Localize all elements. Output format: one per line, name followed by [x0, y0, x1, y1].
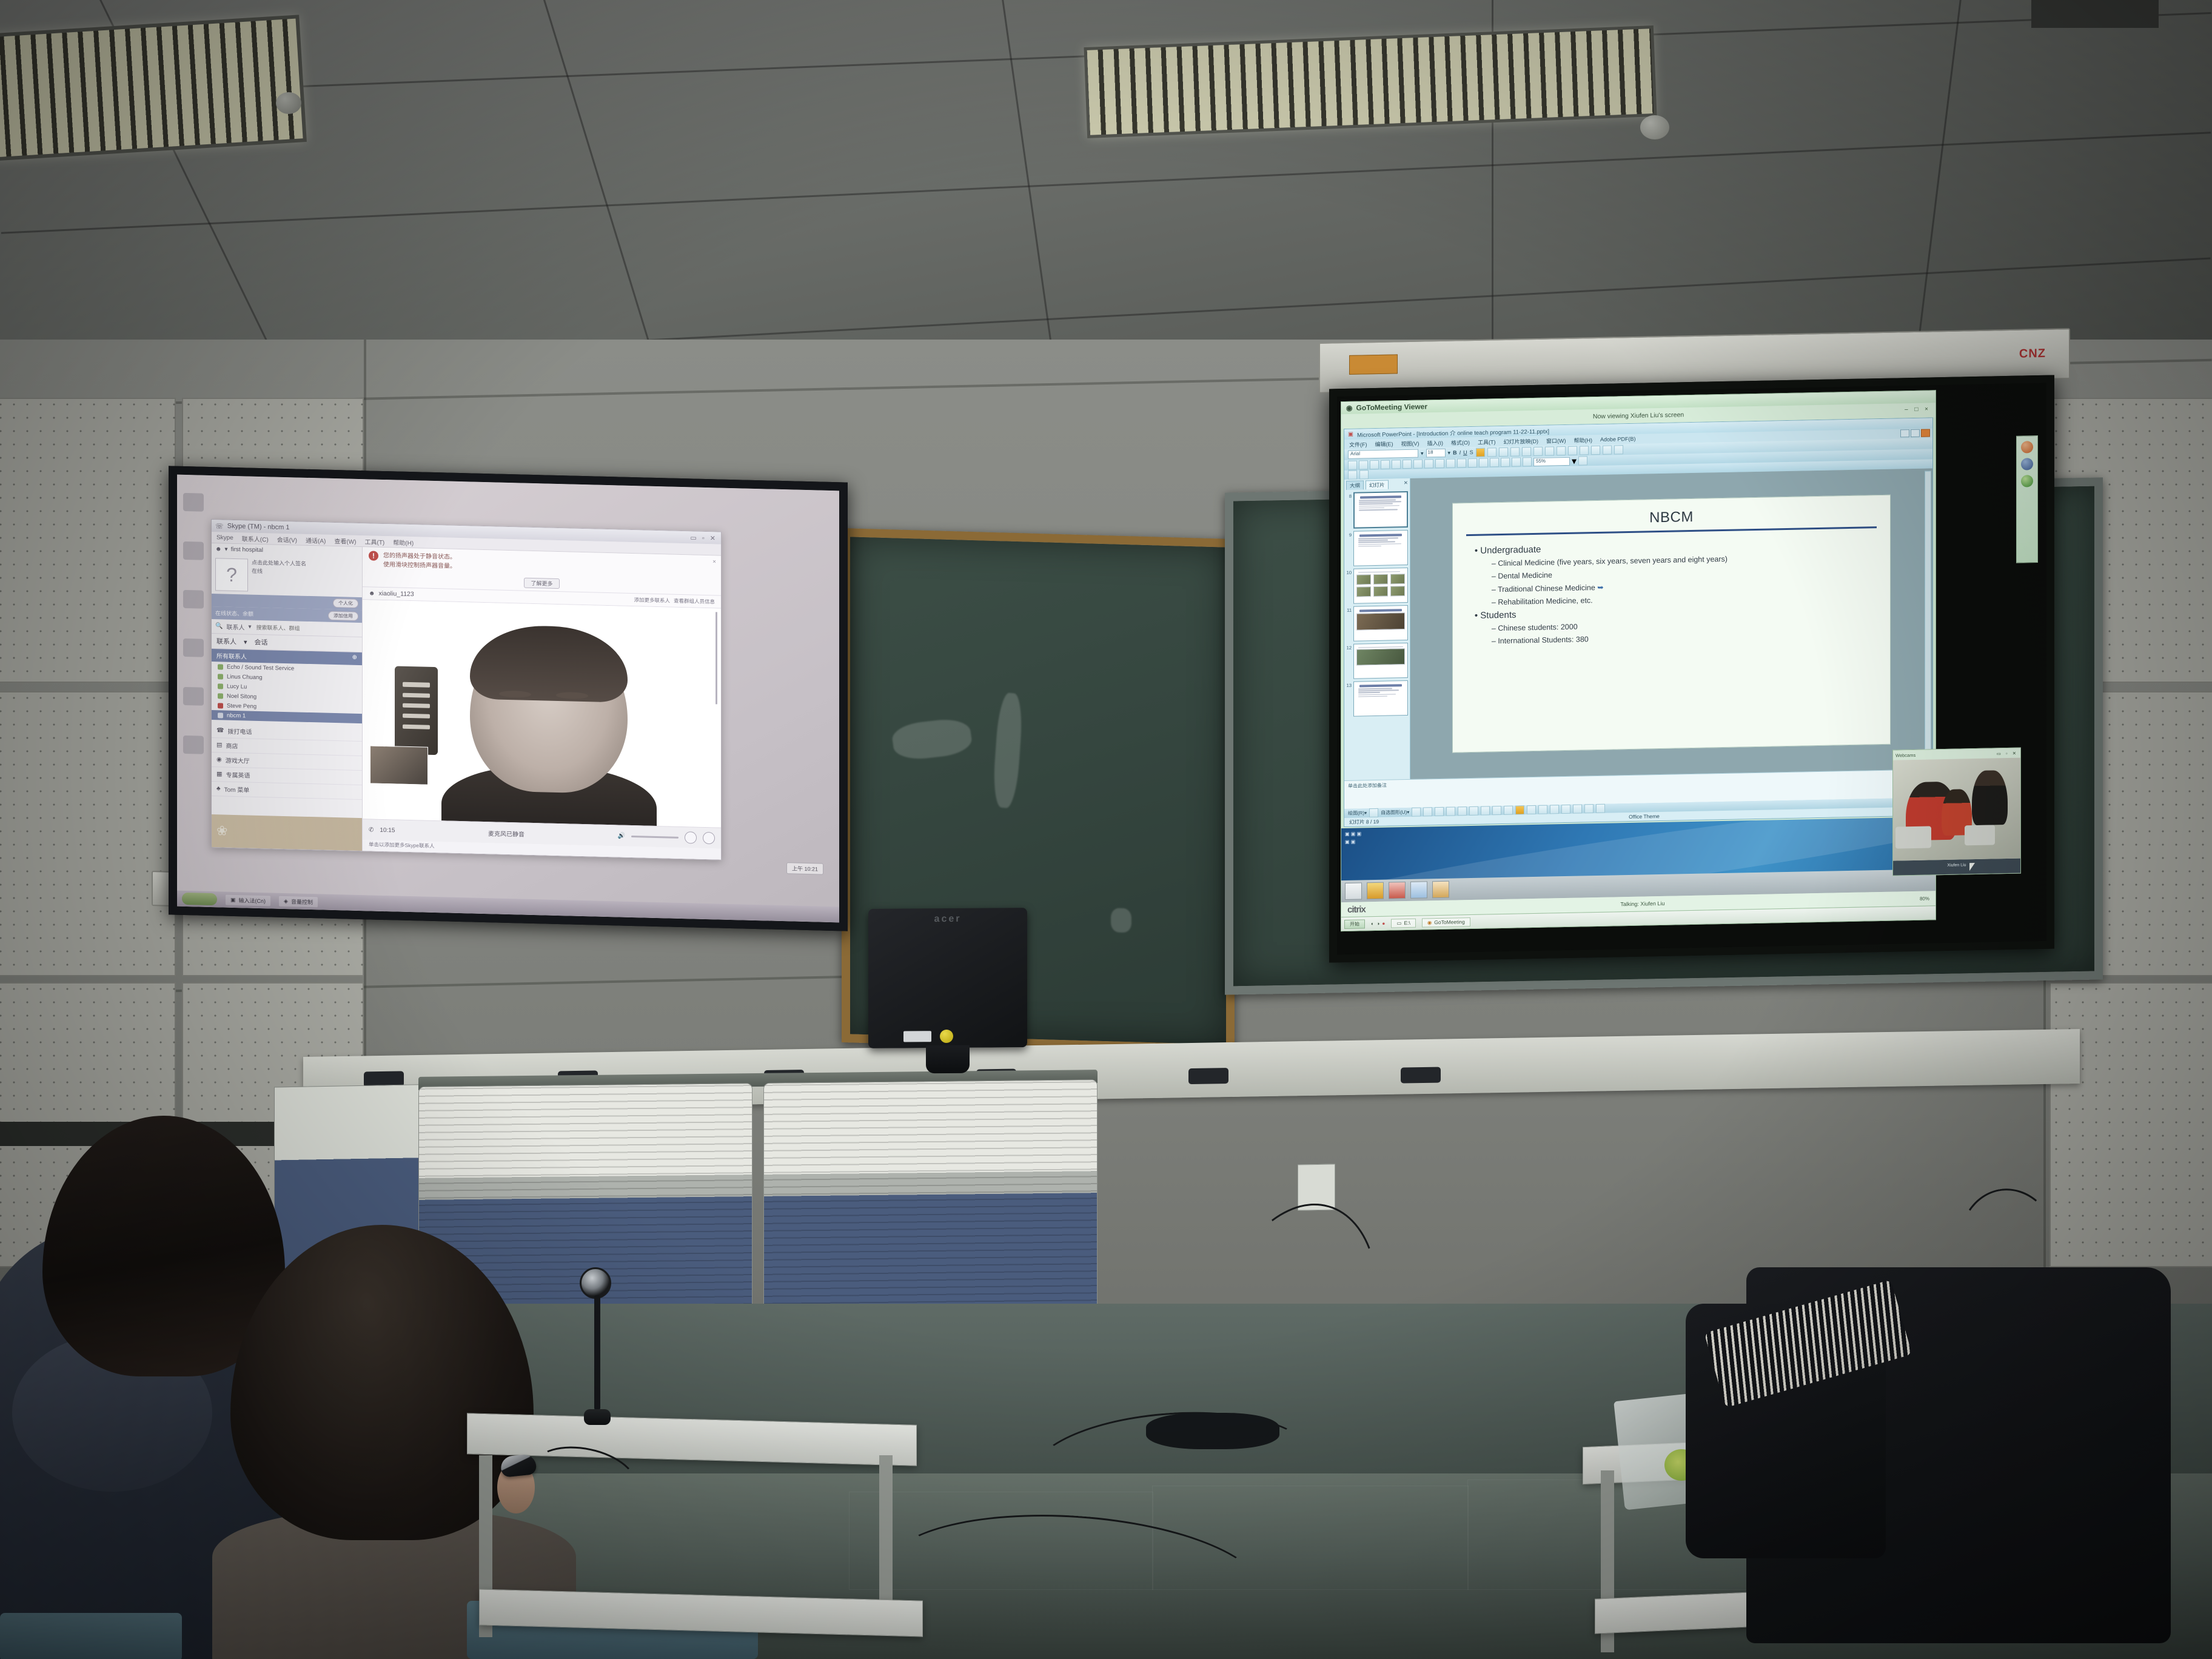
projected-windows-desktop: ☏ Skype (TM) - nbcm 1 ▭ ▫ ✕ Skype 联系人(C)…	[177, 475, 839, 923]
fullscreen-button[interactable]	[703, 832, 715, 844]
start-button[interactable]: 开始	[1344, 919, 1365, 929]
chevron-down-icon[interactable]: ▾	[248, 624, 251, 631]
start-button[interactable]	[182, 893, 217, 905]
contact-name: Steve Peng	[227, 702, 256, 709]
housing-brand-logo: CNZ	[2019, 347, 2046, 361]
menu-item[interactable]: 编辑(E)	[1375, 440, 1393, 448]
housing-warning-label	[1349, 354, 1398, 375]
sidebar-item-label: 游戏大厅	[226, 756, 250, 765]
arrow-button[interactable]	[1423, 807, 1432, 816]
contact-list: Echo / Sound Test Service Linus Chuang L…	[212, 662, 362, 723]
skype-window-title: Skype (TM) - nbcm 1	[227, 523, 290, 532]
game-icon: ◉	[216, 756, 222, 763]
thumbnail-number: 11	[1346, 606, 1352, 613]
thumbnail-row[interactable]: 9	[1346, 530, 1408, 566]
thumbnail-row[interactable]: 10	[1346, 568, 1408, 604]
sidebar-item-label: 专属英语	[226, 770, 250, 780]
taskbar-label: 输入法(Cn)	[239, 896, 266, 905]
speaker	[1188, 1068, 1228, 1084]
acoustic-panel	[2049, 982, 2212, 1267]
group-info-button[interactable]: 查看群组人员信息	[674, 597, 715, 606]
add-contact-icon[interactable]: ⊕	[352, 654, 357, 663]
search-label: 联系人	[226, 622, 244, 632]
open-button[interactable]	[1359, 460, 1368, 469]
profile-status-line[interactable]: 在线	[252, 567, 358, 578]
chevron-down-icon[interactable]: ▾	[1421, 450, 1424, 457]
ceiling-light-left	[0, 15, 307, 161]
insert-chart-button[interactable]	[1501, 458, 1510, 467]
bullet-text: Chinese students: 2000	[1498, 623, 1577, 633]
pdf-icon[interactable]	[1389, 882, 1406, 899]
sidebar-item-tom-menu[interactable]: ♣ Tom 菜单	[212, 782, 362, 800]
conversation-contact: xiaoliu_1123	[379, 590, 414, 598]
line-color-button[interactable]	[1527, 805, 1536, 814]
bullet-text: Clinical Medicine (five years, six years…	[1498, 555, 1728, 568]
account-name: first hospital	[231, 546, 263, 554]
help-button[interactable]	[1578, 456, 1587, 465]
thumbnail-row[interactable]: 8	[1346, 491, 1408, 529]
person-icon: ♣	[216, 785, 221, 792]
sidebar-item-label: 拨打电话	[227, 726, 252, 736]
chevron-down-icon[interactable]: ▾	[1448, 449, 1451, 456]
menu-item[interactable]: Skype	[216, 534, 233, 541]
webcam-video-feed	[1893, 758, 2020, 861]
picture-button[interactable]	[1504, 806, 1513, 815]
webcam-lens	[580, 1267, 611, 1299]
line-style-button[interactable]	[1550, 805, 1559, 814]
audio-icon[interactable]	[2021, 458, 2033, 470]
menu-item[interactable]: 会话(V)	[277, 534, 297, 544]
maximize-button[interactable]	[1911, 429, 1920, 437]
attendees-icon[interactable]	[2021, 475, 2033, 487]
add-participants-button[interactable]: 添加更多联系人	[634, 596, 670, 604]
chair-back-left	[0, 1613, 182, 1659]
presence-icon	[218, 712, 223, 718]
rectangle-button[interactable]	[1435, 807, 1444, 816]
browser-icon[interactable]	[1345, 882, 1362, 900]
contact-presence-icon: ☻	[369, 590, 375, 597]
citrix-logo: citrix	[1347, 904, 1366, 915]
bold-button[interactable]: B	[1453, 449, 1457, 455]
tab-slides[interactable]: 幻灯片	[1366, 480, 1389, 490]
chevron-down-icon[interactable]: ▾	[244, 638, 247, 646]
close-icon[interactable]: ×	[712, 558, 716, 565]
underline-button[interactable]: U	[1463, 449, 1467, 455]
remote-attendee	[1972, 770, 2008, 825]
diagram-button[interactable]	[1481, 806, 1490, 815]
advert-icon: ❀	[216, 823, 227, 839]
theme-name: Office Theme	[1546, 811, 1742, 821]
volume-icon: ◈	[284, 897, 288, 904]
menu-item[interactable]: 窗口(W)	[1546, 436, 1566, 444]
user-avatar-icon: ☻	[215, 546, 222, 552]
phone-icon: ☎	[216, 727, 224, 734]
redo-button[interactable]	[1490, 458, 1499, 467]
chevron-down-icon[interactable]: ▾	[225, 546, 228, 553]
contact-name: nbcm 1	[227, 712, 246, 719]
window-icon: ▣	[230, 896, 236, 903]
call-status: 麦克风已静音	[401, 826, 611, 840]
slide-thumbnail[interactable]	[1353, 643, 1408, 679]
remote-mouse-cursor	[1969, 863, 1975, 871]
menu-item[interactable]: 格式(O)	[1451, 438, 1470, 447]
cable-coil	[1146, 1413, 1279, 1449]
dash-style-button[interactable]	[1561, 805, 1570, 814]
folder-icon: ▭	[1396, 920, 1401, 927]
demote-button[interactable]	[1580, 446, 1589, 455]
print-button[interactable]	[1392, 460, 1401, 469]
cut-button[interactable]	[1435, 459, 1444, 468]
skype-conversation-pane: ! 您的扬声器处于静音状态。 使用滑块控制扬声器音量。 × 了解更多 ☻ x	[363, 547, 721, 859]
taskbar-label: GoToMeeting	[1434, 919, 1465, 925]
chevron-down-icon[interactable]: ▾	[1572, 455, 1577, 467]
acoustic-panel	[0, 691, 176, 976]
viewing-status-text: Now viewing Xiufen Liu's screen	[1593, 411, 1684, 420]
alert-line-2: 使用滑块控制扬声器音量。	[383, 560, 456, 571]
clipart-button[interactable]	[1492, 806, 1501, 815]
balance-label: 在线状态、余额	[215, 609, 253, 618]
paste-button[interactable]	[1457, 458, 1466, 468]
tab-outline[interactable]: 大纲	[1346, 480, 1364, 490]
thumbnail-row[interactable]: 11	[1346, 605, 1408, 642]
powerpoint-icon: ▣	[1348, 431, 1353, 438]
taskbar-item[interactable]: ▣ 输入法(Cn)	[226, 894, 270, 906]
contact-name: Linus Chuang	[227, 673, 263, 680]
monitor-brand-label: acer	[934, 914, 962, 925]
menu-item[interactable]: 工具(T)	[1478, 438, 1496, 446]
draw-menu-button[interactable]: 绘图(R)▾	[1348, 809, 1367, 817]
increase-font-button[interactable]	[1545, 446, 1554, 455]
projection-screen-right: ◉ GoToMeeting Viewer Now viewing Xiufen …	[1329, 375, 2054, 963]
webcam-name-strip: Xiufen Liu	[1893, 859, 2020, 876]
search-input[interactable]	[255, 623, 358, 633]
desk-leg	[879, 1455, 893, 1619]
align-center-button[interactable]	[1487, 447, 1496, 457]
presence-icon	[218, 703, 223, 708]
autoshapes-button[interactable]: 自选图形(U)▾	[1381, 809, 1409, 816]
ceiling	[0, 0, 2212, 388]
window-controls[interactable]: ▭ ▫ ✕	[1997, 750, 2018, 756]
preview-button[interactable]	[1403, 460, 1412, 469]
contact-name: Noel Sitong	[227, 692, 256, 700]
personalize-button[interactable]: 个人化	[333, 598, 358, 608]
contact-name: Lucy Lu	[227, 683, 247, 690]
show-formatting-button[interactable]	[1523, 457, 1532, 466]
taskbar-item-gotomeeting[interactable]: ◉ GoToMeeting	[1422, 917, 1470, 928]
contact-name: Echo / Sound Test Service	[227, 663, 294, 672]
arrow-style-button[interactable]	[1573, 804, 1582, 813]
webcam-base	[584, 1409, 611, 1425]
slide-thumbnail[interactable]	[1353, 568, 1408, 604]
menu-item[interactable]: Adobe PDF(B)	[1600, 436, 1636, 443]
align-left-button[interactable]	[1476, 447, 1485, 457]
slide-thumbnail[interactable]	[1353, 491, 1408, 529]
cart-icon: ▤	[216, 742, 222, 748]
ellipse-button[interactable]	[1446, 806, 1455, 816]
window-controls[interactable]: – □ ×	[1905, 406, 1931, 413]
pdf-and-email-button[interactable]	[1359, 470, 1369, 479]
font-name-input[interactable]: Arial	[1348, 449, 1418, 459]
font-color-button[interactable]	[1538, 805, 1547, 814]
thumbnail-row[interactable]: 13	[1346, 680, 1408, 717]
search-icon: 🔍	[215, 623, 223, 629]
webcam-panel[interactable]: Webcams ▭ ▫ ✕ Xiufen Liu	[1892, 748, 2021, 876]
slide-editing-area[interactable]: NBCM • Undergraduate – Clinical Medicine…	[1410, 468, 1932, 779]
select-button[interactable]	[1369, 808, 1378, 817]
screen-share-icon[interactable]	[2021, 441, 2033, 453]
ceiling-vent	[2031, 0, 2159, 28]
current-slide[interactable]: NBCM • Undergraduate – Clinical Medicine…	[1452, 495, 1891, 753]
menu-item[interactable]: 通话(A)	[306, 535, 326, 545]
promote-button[interactable]	[1568, 446, 1577, 455]
font-size-input[interactable]: 18	[1426, 449, 1446, 458]
slide-title[interactable]: NBCM	[1466, 505, 1877, 530]
format-painter-button[interactable]	[1468, 458, 1477, 468]
classroom-photo: ⌁ ☏ Skype (TM) - nbcm 1 ▭ ▫ ✕	[0, 0, 2212, 1659]
taskbar-item-explorer[interactable]: ▭E:\	[1391, 918, 1415, 928]
avatar-placeholder: ?	[226, 563, 237, 586]
bullet-text: Rehabilitation Medicine, etc.	[1498, 596, 1592, 606]
italic-button[interactable]: I	[1460, 449, 1461, 455]
fill-color-button[interactable]	[1515, 805, 1524, 814]
app-icon[interactable]: ●	[1382, 920, 1385, 927]
gotomeeting-viewer-window[interactable]: ◉ GoToMeeting Viewer Now viewing Xiufen …	[1341, 390, 1936, 931]
sidebar-item-label: 商店	[226, 741, 238, 750]
gotomeeting-control-palette[interactable]	[2016, 435, 2038, 563]
thumbnail-number: 8	[1346, 492, 1352, 499]
bullet-text: Students	[1480, 610, 1516, 621]
bullet-text: Dental Medicine	[1498, 571, 1552, 581]
close-button[interactable]	[1921, 429, 1930, 437]
slide-thumbnail[interactable]	[1353, 530, 1408, 566]
menu-item[interactable]: 查看(W)	[334, 535, 356, 545]
textbox-button[interactable]	[1458, 806, 1467, 816]
remote-person-hair	[470, 625, 628, 703]
group-label: 所有联系人	[216, 651, 247, 660]
add-credit-button[interactable]: 添加信用	[328, 611, 358, 621]
bullet-text: Traditional Chinese Medicine	[1498, 583, 1595, 594]
hangup-icon[interactable]: ✆	[369, 826, 374, 833]
talking-status: Talking: Xiufen Liu	[1620, 900, 1664, 907]
book-icon: ▦	[216, 771, 222, 777]
minimize-button[interactable]	[1900, 429, 1909, 437]
menu-item[interactable]: 帮助(H)	[393, 537, 414, 547]
shadow-style-button[interactable]	[1584, 804, 1594, 813]
menu-item[interactable]: 插入(I)	[1427, 438, 1444, 447]
zoom-input[interactable]: 55%	[1533, 457, 1570, 466]
webcam-on-stand	[570, 1267, 625, 1449]
tab-contacts[interactable]: 联系人	[216, 636, 236, 646]
warning-icon: !	[369, 551, 378, 560]
menu-item[interactable]: 帮助(H)	[1574, 436, 1593, 444]
video-toggle-button[interactable]	[685, 831, 697, 843]
menu-item[interactable]: 文件(F)	[1349, 440, 1367, 449]
monitor-stand	[926, 1045, 970, 1074]
design-button[interactable]	[1603, 445, 1612, 454]
3d-style-button[interactable]	[1596, 804, 1605, 813]
folder-icon[interactable]	[1432, 881, 1449, 899]
sidebar-item-label: Tom 菜单	[224, 785, 250, 794]
media-icon[interactable]: ◑	[1376, 920, 1379, 927]
learn-more-button[interactable]: 了解更多	[524, 578, 559, 589]
call-timer: 10:15	[380, 826, 395, 834]
quick-launch-icons[interactable]: ◐ ◑ ●	[1371, 920, 1385, 927]
new-button[interactable]	[1348, 461, 1357, 470]
browser-icon[interactable]: ◐	[1371, 920, 1374, 927]
wordart-button[interactable]	[1469, 806, 1478, 816]
thumbnail-number: 9	[1346, 531, 1352, 538]
taskbar-item[interactable]: ◈ 音量控制	[279, 896, 318, 907]
slide-body[interactable]: • Undergraduate – Clinical Medicine (fiv…	[1466, 538, 1877, 650]
skype-window-controls[interactable]: ▭ ▫ ✕	[690, 534, 717, 542]
line-button[interactable]	[1412, 808, 1421, 817]
decrease-font-button[interactable]	[1557, 446, 1566, 455]
convert-to-pdf-button[interactable]	[1348, 471, 1357, 480]
slide-thumbnail[interactable]	[1353, 605, 1408, 642]
document-icon[interactable]	[1410, 881, 1427, 899]
close-pane-icon[interactable]: ✕	[1404, 480, 1408, 489]
mouse-cursor-icon: ➥	[1595, 583, 1604, 591]
copy-button[interactable]	[1446, 458, 1455, 468]
gotomeeting-window-title: GoToMeeting Viewer	[1356, 402, 1427, 412]
acer-monitor: acer	[868, 908, 1027, 1048]
thumbnail-number: 13	[1346, 682, 1352, 688]
video-call-area[interactable]	[363, 600, 721, 827]
slide-thumbnail-pane[interactable]: 大纲 幻灯片 ✕ 8	[1344, 478, 1410, 780]
numbering-button[interactable]	[1522, 447, 1531, 456]
new-slide-button[interactable]	[1614, 445, 1623, 454]
sidebar-links: ☎ 拨打电话 ▤ 商店 ◉ 游戏大厅	[212, 723, 362, 800]
thumbnail-number: 10	[1346, 569, 1352, 575]
presence-icon	[218, 693, 223, 699]
skype-window[interactable]: ☏ Skype (TM) - nbcm 1 ▭ ▫ ✕ Skype 联系人(C)…	[211, 519, 722, 860]
self-view-thumbnail[interactable]	[370, 745, 429, 785]
presence-icon	[218, 683, 223, 689]
monitor-sticker	[903, 1031, 931, 1042]
align-right-button[interactable]	[1499, 447, 1508, 456]
bullet-text: Undergraduate	[1480, 545, 1541, 556]
save-button[interactable]	[1370, 460, 1379, 469]
remote-desktop-icons: ▣ ▣ ▣▣ ▣	[1345, 830, 1361, 846]
avatar[interactable]: ?	[215, 558, 248, 591]
bullet-text: International Students: 380	[1498, 635, 1588, 646]
presence-icon	[218, 674, 223, 679]
tab-conversations[interactable]: 会话	[255, 637, 268, 648]
research-button[interactable]	[1424, 459, 1433, 468]
slide-scrollbar[interactable]	[1925, 471, 1931, 766]
smoke-detector-right	[1640, 115, 1669, 139]
shadow-button[interactable]: S	[1470, 449, 1473, 455]
monitor-yellow-sticker	[940, 1030, 953, 1043]
webcam-arm	[594, 1295, 600, 1410]
volume-icon[interactable]: 🔊	[618, 833, 625, 839]
taskbar-label: 音量控制	[291, 897, 313, 906]
email-button[interactable]	[1381, 460, 1390, 469]
insert-table-button[interactable]	[1512, 457, 1521, 466]
gotomeeting-icon: ◉	[1427, 919, 1432, 926]
projection-screen-left: ☏ Skype (TM) - nbcm 1 ▭ ▫ ✕ Skype 联系人(C)…	[169, 466, 848, 931]
line-spacing-button[interactable]	[1533, 446, 1543, 455]
volume-slider[interactable]	[631, 835, 679, 838]
font-color-button[interactable]	[1591, 445, 1600, 454]
slide-thumbnail[interactable]	[1353, 680, 1408, 717]
powerpoint-window[interactable]: ▣ Microsoft PowerPoint - [Introduction 介…	[1344, 417, 1933, 827]
menu-item[interactable]: 幻灯片放映(D)	[1504, 437, 1539, 445]
speaker	[1401, 1067, 1441, 1084]
spelling-button[interactable]	[1413, 460, 1423, 469]
undo-button[interactable]	[1479, 458, 1488, 467]
presence-icon	[218, 664, 223, 669]
app-icon[interactable]	[1367, 882, 1384, 900]
gotomeeting-icon: ◉	[1346, 404, 1352, 412]
thumbnail-row[interactable]: 12	[1346, 643, 1408, 679]
sidebar-advert[interactable]: ❀	[212, 814, 362, 851]
menu-item[interactable]: 工具(T)	[364, 537, 384, 546]
skype-sidebar: ☻ ▾ first hospital ? 点击此处输入个人签名 在	[212, 543, 363, 851]
skype-icon: ☏	[215, 522, 224, 530]
menu-item[interactable]: 视图(V)	[1401, 439, 1419, 447]
thumbnail-number: 12	[1346, 644, 1352, 651]
menu-item[interactable]: 联系人(C)	[242, 534, 269, 543]
system-clock: 上午 10:21	[786, 862, 823, 874]
bullets-button[interactable]	[1510, 447, 1520, 456]
zoom-indicator[interactable]: 80%	[1920, 896, 1929, 901]
desk-phone-in-video	[395, 666, 438, 755]
webcam-panel-title: Webcams	[1895, 752, 1915, 758]
acoustic-panel	[0, 398, 176, 683]
smoke-detector-left	[276, 92, 301, 114]
